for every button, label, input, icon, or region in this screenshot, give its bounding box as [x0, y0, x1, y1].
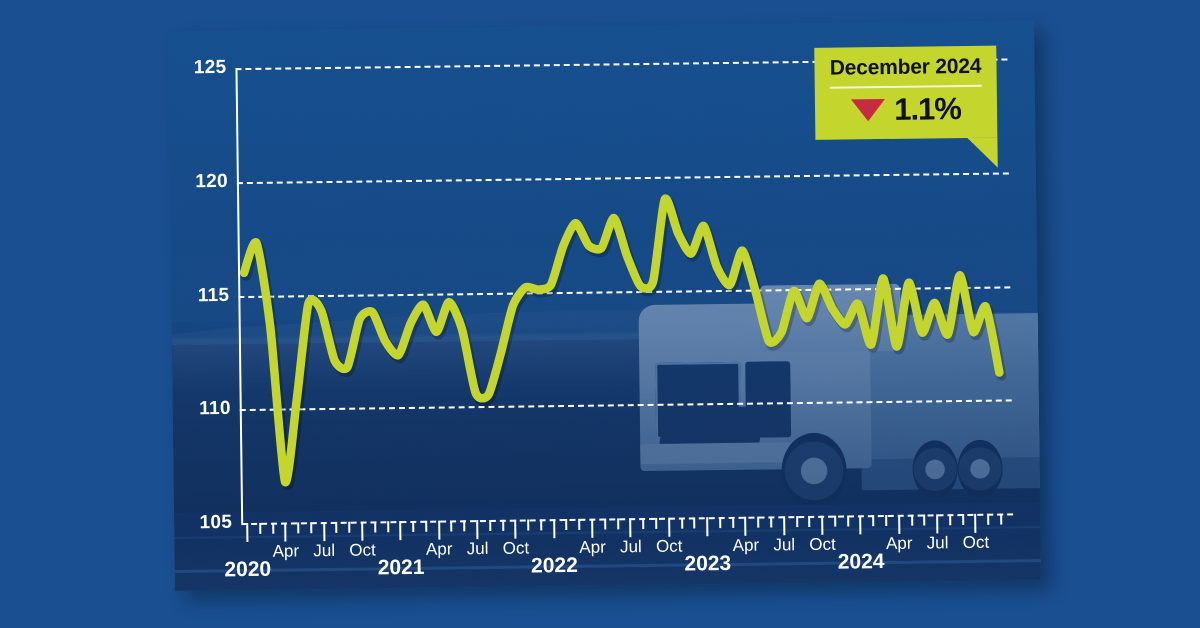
x-month-label: Jul [620, 537, 642, 557]
x-tick [923, 515, 925, 526]
x-tick [770, 516, 772, 527]
x-year-label-2020: 2020 [224, 558, 271, 583]
x-tick [348, 522, 350, 533]
callout-value: 1.1% [894, 91, 961, 128]
x-tick [681, 518, 683, 529]
x-tick [540, 519, 542, 530]
x-tick [259, 523, 261, 534]
x-month-label: Oct [349, 540, 376, 560]
x-month-label: Apr [886, 534, 913, 554]
x-month-label: Jul [313, 541, 335, 561]
x-tick [489, 520, 491, 531]
x-tick [502, 520, 504, 531]
y-tick-label: 120 [195, 171, 228, 193]
y-tick-label: 125 [194, 57, 227, 79]
x-tick [412, 521, 414, 532]
y-tick-label: 110 [199, 398, 231, 420]
x-month-label: Apr [426, 539, 453, 559]
x-tick [604, 519, 606, 530]
december-2024-callout: December 2024 1.1% [814, 46, 997, 140]
x-tick [374, 521, 376, 532]
x-month-label: Oct [963, 533, 990, 553]
x-tick [987, 514, 989, 525]
x-tick [834, 516, 836, 527]
x-tick [885, 515, 887, 526]
x-month-label: Oct [656, 537, 683, 557]
x-month-label: Oct [809, 535, 836, 555]
x-tick [387, 521, 389, 532]
x-tick [911, 515, 913, 526]
x-tick [808, 516, 810, 527]
x-year-label-2023: 2023 [684, 552, 731, 577]
x-month-label: Apr [733, 536, 760, 556]
x-tick [578, 519, 580, 530]
callout-value-row: 1.1% [828, 91, 984, 129]
x-year-label-2021: 2021 [378, 556, 425, 581]
y-tick-label: 115 [198, 284, 230, 306]
x-tick [949, 514, 951, 525]
x-month-label: Apr [273, 541, 300, 561]
x-month-label: Apr [579, 538, 606, 558]
x-tick [272, 523, 274, 534]
x-year-label-2024: 2024 [838, 550, 885, 575]
x-tick [962, 514, 964, 525]
x-tick [796, 516, 798, 527]
x-axis-labels: 2020AprJulOct2021AprJulOct2022AprJulOct2… [241, 530, 1014, 590]
x-tick [1000, 514, 1002, 525]
x-tick [527, 519, 529, 530]
x-year-label-2022: 2022 [531, 554, 578, 579]
x-tick [451, 520, 453, 531]
x-tick [336, 522, 338, 533]
callout-divider [830, 85, 982, 89]
x-month-label: Jul [773, 535, 795, 555]
x-month-label: Jul [927, 533, 949, 553]
chart-panel: 105110115120125 2020AprJulOct2021AprJulO… [168, 20, 1041, 591]
x-tick [719, 517, 721, 528]
x-tick [693, 517, 695, 528]
x-tick [732, 517, 734, 528]
x-tick [425, 521, 427, 532]
x-tick [617, 518, 619, 529]
x-month-label: Oct [503, 539, 530, 559]
x-tick [847, 515, 849, 526]
x-tick [310, 522, 312, 533]
callout-body: December 2024 1.1% [814, 46, 997, 140]
x-tick [566, 519, 568, 530]
x-tick [297, 522, 299, 533]
x-tick [642, 518, 644, 529]
callout-title: December 2024 [827, 55, 983, 81]
callout-tail [967, 138, 997, 168]
y-tick-label: 105 [199, 512, 232, 534]
x-tick [463, 520, 465, 531]
triangle-down-icon [851, 99, 885, 121]
x-tick [757, 517, 759, 528]
x-month-label: Jul [467, 539, 489, 559]
x-tick [655, 518, 657, 529]
x-tick [872, 515, 874, 526]
